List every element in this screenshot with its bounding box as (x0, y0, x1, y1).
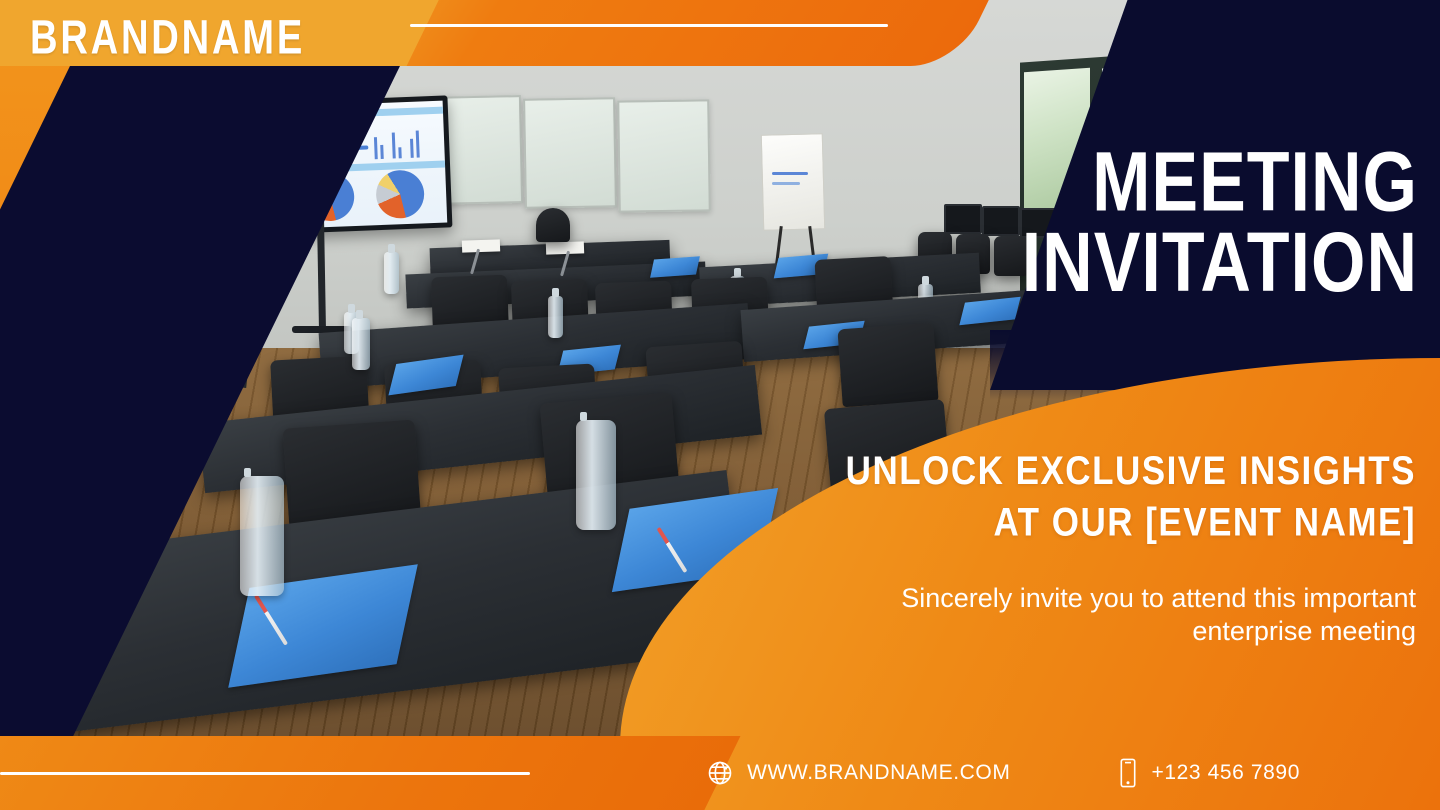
chair (536, 208, 570, 242)
mobile-phone-icon (1118, 758, 1138, 788)
blue-folder (650, 256, 700, 278)
chart-minibar (398, 147, 401, 158)
water-bottle (576, 420, 616, 530)
chart-minibar (410, 139, 414, 158)
website-label: WWW.BRANDNAME.COM (747, 761, 1010, 785)
meeting-invitation-poster: BRANDNAME MEETING INVITATION UNLOCK EXCL… (0, 0, 1440, 810)
water-bottle (548, 296, 563, 338)
water-bottle (240, 476, 284, 596)
phone-contact[interactable]: +123 456 7890 (1118, 758, 1300, 788)
brand-logo-text: BRANDNAME (30, 10, 305, 65)
phone-label: +123 456 7890 (1151, 761, 1300, 785)
globe-icon (706, 759, 734, 787)
chart-pie (375, 169, 425, 219)
chart-minibar (380, 145, 384, 159)
chart-minibar (416, 131, 420, 158)
name-card (462, 239, 500, 252)
flipchart-mark (772, 182, 800, 185)
chair (837, 323, 938, 408)
invitation-body-text: Sincerely invite you to attend this impo… (796, 582, 1416, 649)
page-title: MEETING INVITATION (798, 142, 1418, 303)
page-title-line-1: MEETING (798, 142, 1418, 223)
chart-minibar (374, 137, 378, 159)
header-divider-line (410, 24, 888, 27)
water-bottle (352, 318, 370, 370)
name-card (546, 241, 584, 254)
whiteboard-mid (523, 97, 617, 209)
contact-footer: WWW.BRANDNAME.COM +123 456 7890 (0, 758, 1440, 788)
page-title-line-2: INVITATION (798, 223, 1418, 304)
chart-minibar (392, 132, 396, 158)
website-contact[interactable]: WWW.BRANDNAME.COM (706, 759, 1010, 787)
water-bottle (384, 252, 399, 294)
whiteboard-right (617, 99, 711, 212)
event-headline: UNLOCK EXCLUSIVE INSIGHTS AT OUR [EVENT … (816, 446, 1416, 549)
